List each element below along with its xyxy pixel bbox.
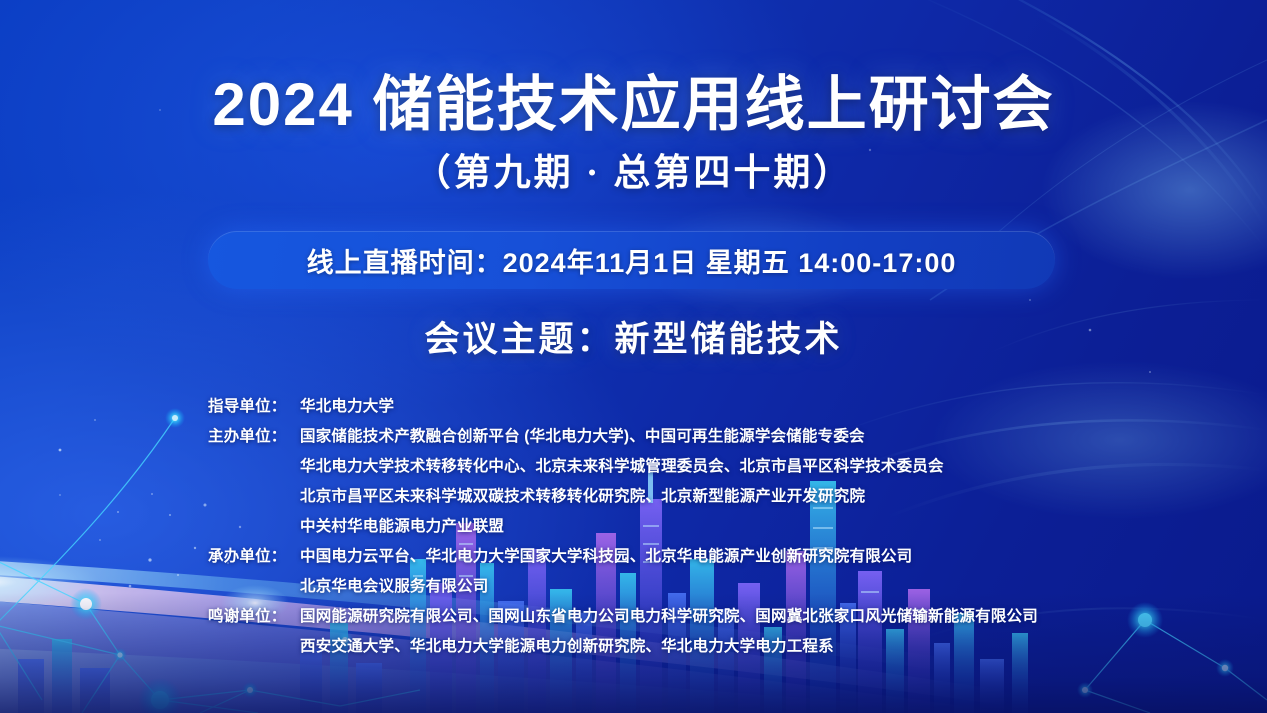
organizer-list: 指导单位： 华北电力大学 主办单位： 国家储能技术产教融合创新平台 (华北电力大… — [208, 392, 1147, 662]
organizer-value: 西安交通大学、华北电力大学能源电力创新研究院、华北电力大学电力工程系 — [300, 632, 1147, 662]
organizer-row: 指导单位： 华北电力大学 — [208, 392, 1147, 422]
organizer-value: 华北电力大学 — [300, 392, 1147, 422]
page-subtitle: （第九期 · 总第四十期） — [0, 142, 1267, 196]
organizer-value: 国网能源研究院有限公司、国网山东省电力公司电力科学研究院、国网冀北张家口风光储输… — [300, 602, 1147, 632]
organizer-value: 中国电力云平台、华北电力大学国家大学科技园、北京华电能源产业创新研究院有限公司 — [300, 542, 1147, 572]
organizer-label: 指导单位： — [208, 392, 300, 422]
organizer-row: 华北电力大学技术转移转化中心、北京未来科学城管理委员会、北京市昌平区科学技术委员… — [208, 452, 1147, 482]
organizer-row: 中关村华电能源电力产业联盟 — [208, 512, 1147, 542]
organizer-value: 中关村华电能源电力产业联盟 — [300, 512, 1147, 542]
organizer-row: 北京华电会议服务有限公司 — [208, 572, 1147, 602]
live-time-text: 线上直播时间：2024年11月1日 星期五 14:00-17:00 — [307, 241, 957, 280]
organizer-label: 承办单位： — [208, 542, 300, 572]
live-time-banner: 线上直播时间：2024年11月1日 星期五 14:00-17:00 — [208, 231, 1055, 289]
organizer-label: 鸣谢单位： — [208, 602, 300, 632]
organizer-value: 华北电力大学技术转移转化中心、北京未来科学城管理委员会、北京市昌平区科学技术委员… — [300, 452, 1147, 482]
organizer-label: 主办单位： — [208, 422, 300, 452]
conference-poster: 2024 储能技术应用线上研讨会 （第九期 · 总第四十期） 线上直播时间：20… — [0, 0, 1267, 713]
organizer-value: 国家储能技术产教融合创新平台 (华北电力大学)、中国可再生能源学会储能专委会 — [300, 422, 1147, 452]
poster-content: 2024 储能技术应用线上研讨会 （第九期 · 总第四十期） 线上直播时间：20… — [0, 0, 1267, 713]
page-title: 2024 储能技术应用线上研讨会 — [0, 56, 1267, 143]
organizer-row: 主办单位： 国家储能技术产教融合创新平台 (华北电力大学)、中国可再生能源学会储… — [208, 422, 1147, 452]
conference-theme: 会议主题：新型储能技术 — [0, 311, 1267, 362]
organizer-value: 北京市昌平区未来科学城双碳技术转移转化研究院、北京新型能源产业开发研究院 — [300, 482, 1147, 512]
organizer-row: 承办单位： 中国电力云平台、华北电力大学国家大学科技园、北京华电能源产业创新研究… — [208, 542, 1147, 572]
organizer-row: 鸣谢单位： 国网能源研究院有限公司、国网山东省电力公司电力科学研究院、国网冀北张… — [208, 602, 1147, 632]
organizer-row: 北京市昌平区未来科学城双碳技术转移转化研究院、北京新型能源产业开发研究院 — [208, 482, 1147, 512]
organizer-value: 北京华电会议服务有限公司 — [300, 572, 1147, 602]
organizer-row: 西安交通大学、华北电力大学能源电力创新研究院、华北电力大学电力工程系 — [208, 632, 1147, 662]
